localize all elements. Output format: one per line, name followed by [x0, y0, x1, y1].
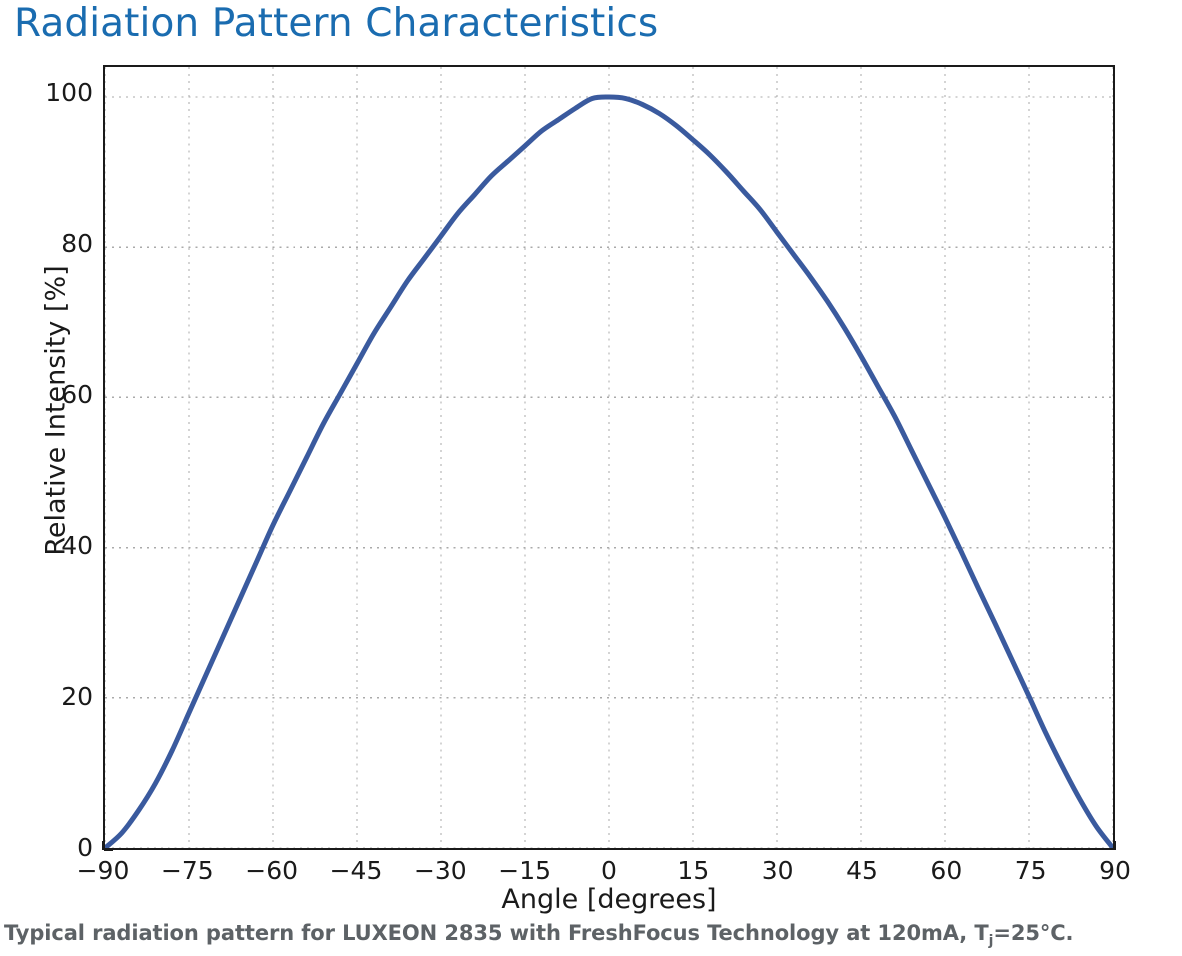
y-axis-title: Relative Intensity [%] — [41, 81, 72, 741]
caption-text-before: Typical radiation pattern for LUXEON 283… — [4, 921, 989, 945]
radiation-pattern-curve — [105, 67, 1113, 848]
chart-figure: Relative Intensity [%] Angle [degrees] 0… — [0, 52, 1182, 912]
x-axis-title: Angle [degrees] — [103, 884, 1115, 915]
y-tick-label: 100 — [7, 78, 93, 107]
y-tick-label: 20 — [7, 682, 93, 711]
y-tick-label: 80 — [7, 229, 93, 258]
y-tick-label: 40 — [7, 531, 93, 560]
plot-area — [103, 65, 1115, 850]
y-tick-label: 60 — [7, 380, 93, 409]
figure-caption: Typical radiation pattern for LUXEON 283… — [4, 921, 1073, 945]
caption-text-after: =25°C. — [993, 921, 1073, 945]
x-tick-label: 90 — [1065, 856, 1165, 885]
caption-subscript: j — [989, 933, 994, 949]
page-title: Radiation Pattern Characteristics — [14, 0, 658, 50]
